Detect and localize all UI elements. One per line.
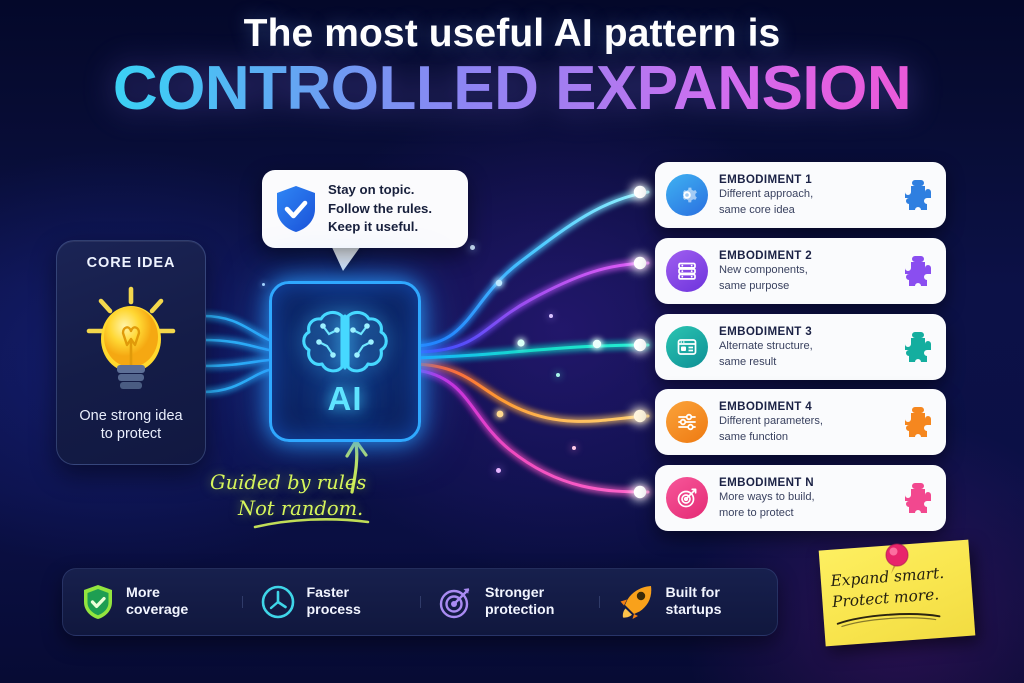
page-title: The most useful AI pattern is CONTROLLED… — [0, 14, 1024, 120]
embodiment-card-2-text: EMBODIMENT 2 New components, same purpos… — [719, 249, 901, 293]
ai-core-node: AI — [269, 281, 421, 442]
embodiment-card-2-sub-2: same purpose — [719, 279, 901, 294]
embodiment-card-2-sub-1: New components, — [719, 263, 901, 278]
sparkle — [556, 373, 560, 377]
core-idea-description: One strong idea to protect — [79, 407, 182, 443]
pushpin-icon — [879, 541, 915, 581]
annotation-line-1: Guided by rules — [210, 471, 366, 494]
embodiment-card-4-title: EMBODIMENT 4 — [719, 400, 901, 413]
embodiment-card-3-sub-1: Alternate structure, — [719, 339, 901, 354]
benefit-faster-process-label: Faster process — [307, 585, 361, 619]
core-idea-desc-line-1: One strong idea — [79, 407, 182, 425]
sliders-icon — [666, 401, 708, 443]
guardrail-bubble-text: Stay on topic. Follow the rules. Keep it… — [328, 181, 432, 237]
puzzle-piece-icon — [901, 330, 935, 364]
benefit-built-for-startups[interactable]: Built for startups — [599, 584, 778, 620]
rocket-icon — [617, 584, 655, 620]
gear-icon — [666, 174, 708, 216]
embodiment-card-n[interactable]: EMBODIMENT N More ways to build, more to… — [655, 465, 946, 531]
shield-check-icon — [81, 583, 115, 621]
benefit-faster-process[interactable]: Faster process — [242, 584, 421, 620]
benefit-line-2: startups — [666, 602, 722, 619]
core-idea-title: CORE IDEA — [87, 255, 176, 271]
benefit-line-1: Faster — [307, 585, 361, 602]
embodiment-card-1-text: EMBODIMENT 1 Different approach, same co… — [719, 173, 901, 217]
benefit-line-2: process — [307, 602, 361, 619]
title-line-1: The most useful AI pattern is — [0, 14, 1024, 55]
puzzle-piece-icon — [901, 254, 935, 288]
clock-icon — [260, 584, 296, 620]
benefit-line-1: Built for — [666, 585, 722, 602]
bubble-line-1: Stay on topic. — [328, 181, 432, 200]
embodiment-card-4[interactable]: EMBODIMENT 4 Different parameters, same … — [655, 389, 946, 455]
infographic-canvas: The most useful AI pattern is CONTROLLED… — [0, 0, 1024, 683]
ai-node-label: AI — [328, 380, 363, 418]
embodiment-card-1-title: EMBODIMENT 1 — [719, 173, 901, 186]
embodiment-card-3-sub-2: same result — [719, 355, 901, 370]
benefit-line-1: Stronger — [485, 585, 554, 602]
path-nodes — [496, 280, 601, 418]
benefit-stronger-protection[interactable]: Stronger protection — [420, 584, 599, 620]
puzzle-piece-icon — [901, 178, 935, 212]
shield-check-icon — [274, 184, 318, 234]
core-to-ai-lines — [203, 316, 269, 392]
bubble-line-2: Follow the rules. — [328, 200, 432, 219]
embodiment-card-n-sub-1: More ways to build, — [719, 490, 901, 505]
embodiment-card-4-sub-1: Different parameters, — [719, 414, 901, 429]
embodiment-card-3-title: EMBODIMENT 3 — [719, 325, 901, 338]
annotation-note: Guided by rules Not random. — [210, 470, 410, 521]
embodiment-card-1[interactable]: EMBODIMENT 1 Different approach, same co… — [655, 162, 946, 228]
embodiment-card-4-text: EMBODIMENT 4 Different parameters, same … — [719, 400, 901, 444]
benefit-line-1: More — [126, 585, 188, 602]
brain-circuit-icon — [293, 306, 397, 382]
sparkle — [496, 468, 501, 473]
embodiment-card-n-text: EMBODIMENT N More ways to build, more to… — [719, 476, 901, 520]
core-idea-desc-line-2: to protect — [79, 425, 182, 443]
embodiment-card-4-sub-2: same function — [719, 430, 901, 445]
target-dart-icon — [666, 477, 708, 519]
sparkle — [549, 314, 553, 318]
annotation-line-2: Not random. — [210, 496, 410, 522]
embodiment-card-2[interactable]: EMBODIMENT 2 New components, same purpos… — [655, 238, 946, 304]
embodiment-card-3-text: EMBODIMENT 3 Alternate structure, same r… — [719, 325, 901, 369]
embodiment-card-1-sub-2: same core idea — [719, 203, 901, 218]
bubble-line-3: Keep it useful. — [328, 218, 432, 237]
benefit-line-2: coverage — [126, 602, 188, 619]
embodiment-card-1-sub-1: Different approach, — [719, 187, 901, 202]
title-line-2: CONTROLLED EXPANSION — [0, 57, 1024, 120]
benefit-line-2: protection — [485, 602, 554, 619]
lightbulb-icon — [77, 277, 185, 399]
embodiment-card-n-title: EMBODIMENT N — [719, 476, 901, 489]
embodiment-card-3[interactable]: EMBODIMENT 3 Alternate structure, same r… — [655, 314, 946, 380]
puzzle-piece-icon — [901, 481, 935, 515]
benefit-more-coverage-label: More coverage — [126, 585, 188, 619]
benefit-built-for-startups-label: Built for startups — [666, 585, 722, 619]
benefits-bar: More coverage Faster process — [62, 568, 778, 636]
sparkle — [470, 245, 475, 250]
sparkle — [572, 446, 576, 450]
embodiment-card-2-title: EMBODIMENT 2 — [719, 249, 901, 262]
server-stack-icon — [666, 250, 708, 292]
guardrail-speech-bubble: Stay on topic. Follow the rules. Keep it… — [262, 170, 468, 248]
benefit-stronger-protection-label: Stronger protection — [485, 585, 554, 619]
target-dart-icon — [438, 584, 474, 620]
benefit-more-coverage[interactable]: More coverage — [63, 583, 242, 621]
puzzle-piece-icon — [901, 405, 935, 439]
sparkle — [262, 283, 265, 286]
embodiment-card-n-sub-2: more to protect — [719, 506, 901, 521]
core-idea-card: CORE IDEA One strong idea — [56, 240, 206, 465]
connector-endpoints — [634, 186, 646, 498]
layout-window-icon — [666, 326, 708, 368]
